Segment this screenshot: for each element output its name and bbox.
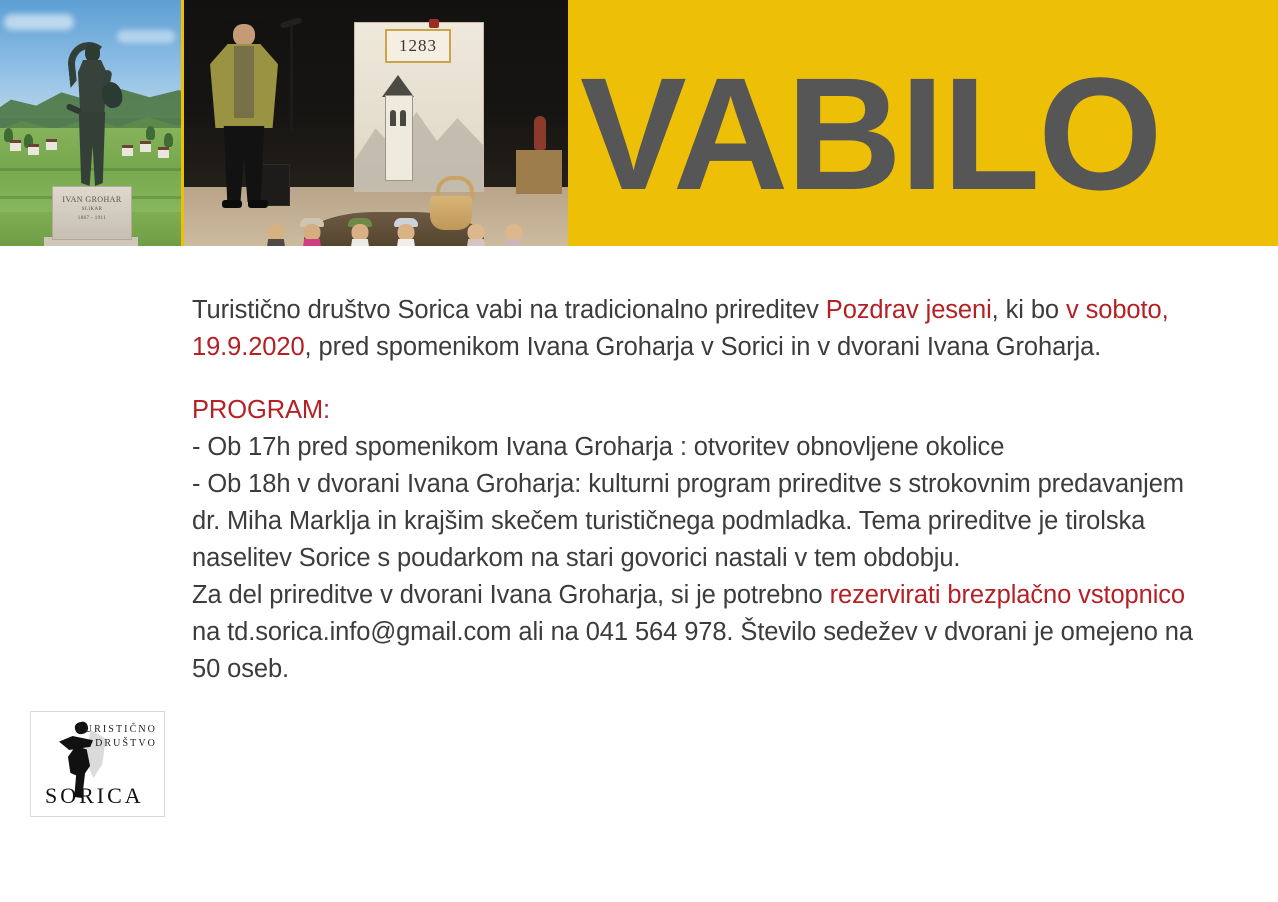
- event-name-accent: Pozdrav jeseni: [826, 296, 992, 324]
- pedestal-inscription-role: SLIKAR: [53, 207, 131, 212]
- actor-adult-man: [202, 10, 288, 210]
- grohar-statue-figure: [58, 40, 124, 190]
- cloud: [117, 30, 175, 43]
- child-head: [352, 224, 369, 241]
- program-item-2: - Ob 18h v dvorani Ivana Groharja: kultu…: [192, 466, 1202, 577]
- logo-society-words: TURISTIČNO DRUŠTVO: [77, 723, 157, 751]
- trousers: [222, 126, 266, 202]
- intro-paragraph: Turistično društvo Sorica vabi na tradic…: [192, 292, 1202, 366]
- program-item-1: - Ob 17h pred spomenikom Ivana Groharja …: [192, 429, 1202, 466]
- vase: [534, 116, 546, 150]
- program-heading: PROGRAM:: [192, 392, 1202, 429]
- church-roof: [382, 75, 414, 97]
- reservation-accent: rezervirati brezplačno vstopnico: [830, 581, 1185, 609]
- sorica-tourist-society-logo: TURISTIČNO DRUŠTVO SORICA: [30, 711, 165, 817]
- church-window: [400, 110, 406, 126]
- child-head: [304, 224, 321, 241]
- house: [10, 140, 21, 151]
- shoe: [222, 200, 242, 208]
- child-head: [268, 224, 285, 241]
- microphone-stand: [290, 24, 293, 132]
- child-head: [398, 224, 415, 241]
- jacket-inner: [234, 46, 254, 118]
- child-head: [506, 224, 523, 241]
- statue-legs: [77, 112, 107, 186]
- ivan-grohar-statue-photo: IVAN GROHAR SLIKAR 1867 - 1911: [0, 0, 181, 246]
- house: [158, 147, 169, 158]
- logo-line-sorica: SORICA: [45, 783, 144, 809]
- page-title: VABILO: [580, 64, 1161, 205]
- sign-flag: [429, 19, 439, 28]
- pedestal-inscription-name: IVAN GROHAR: [53, 195, 131, 204]
- house: [28, 144, 39, 155]
- theatre-performance-photo: 1283: [184, 0, 568, 246]
- cloud: [4, 14, 74, 30]
- face: [233, 24, 255, 46]
- statue-pedestal: IVAN GROHAR SLIKAR 1867 - 1911: [52, 186, 132, 240]
- house: [140, 141, 151, 152]
- intro-text-part1: Turistično društvo Sorica vabi na tradic…: [192, 296, 826, 324]
- intro-text-part2: , ki bo: [992, 296, 1066, 324]
- reservation-text-part2: na td.sorica.info@gmail.com ali na 041 5…: [192, 618, 1193, 683]
- intro-text-part3: , pred spomenikom Ivana Groharja v Soric…: [305, 333, 1102, 361]
- backdrop-mountains: [355, 87, 483, 191]
- painted-backdrop: 1283: [354, 22, 484, 192]
- church-tower: [381, 75, 415, 179]
- year-sign-1283: 1283: [385, 29, 451, 63]
- header-banner: IVAN GROHAR SLIKAR 1867 - 1911 1283: [0, 0, 1278, 246]
- wicker-basket: [430, 196, 472, 230]
- church-body: [385, 95, 413, 181]
- reservation-text-part1: Za del prireditve v dvorani Ivana Grohar…: [192, 581, 830, 609]
- reservation-paragraph: Za del prireditve v dvorani Ivana Grohar…: [192, 577, 1202, 688]
- shoe: [248, 200, 268, 208]
- logo-line-turisticno: TURISTIČNO: [77, 723, 157, 737]
- child-head: [468, 224, 485, 241]
- logo-line-drustvo: DRUŠTVO: [77, 737, 157, 751]
- church-window: [390, 110, 396, 126]
- house: [46, 139, 57, 150]
- invitation-body: Turistično društvo Sorica vabi na tradic…: [192, 292, 1202, 714]
- side-table: [516, 150, 562, 194]
- pedestal-inscription-years: 1867 - 1911: [53, 216, 131, 221]
- banner-title-area: VABILO: [568, 0, 1278, 246]
- statue-head: [85, 44, 100, 62]
